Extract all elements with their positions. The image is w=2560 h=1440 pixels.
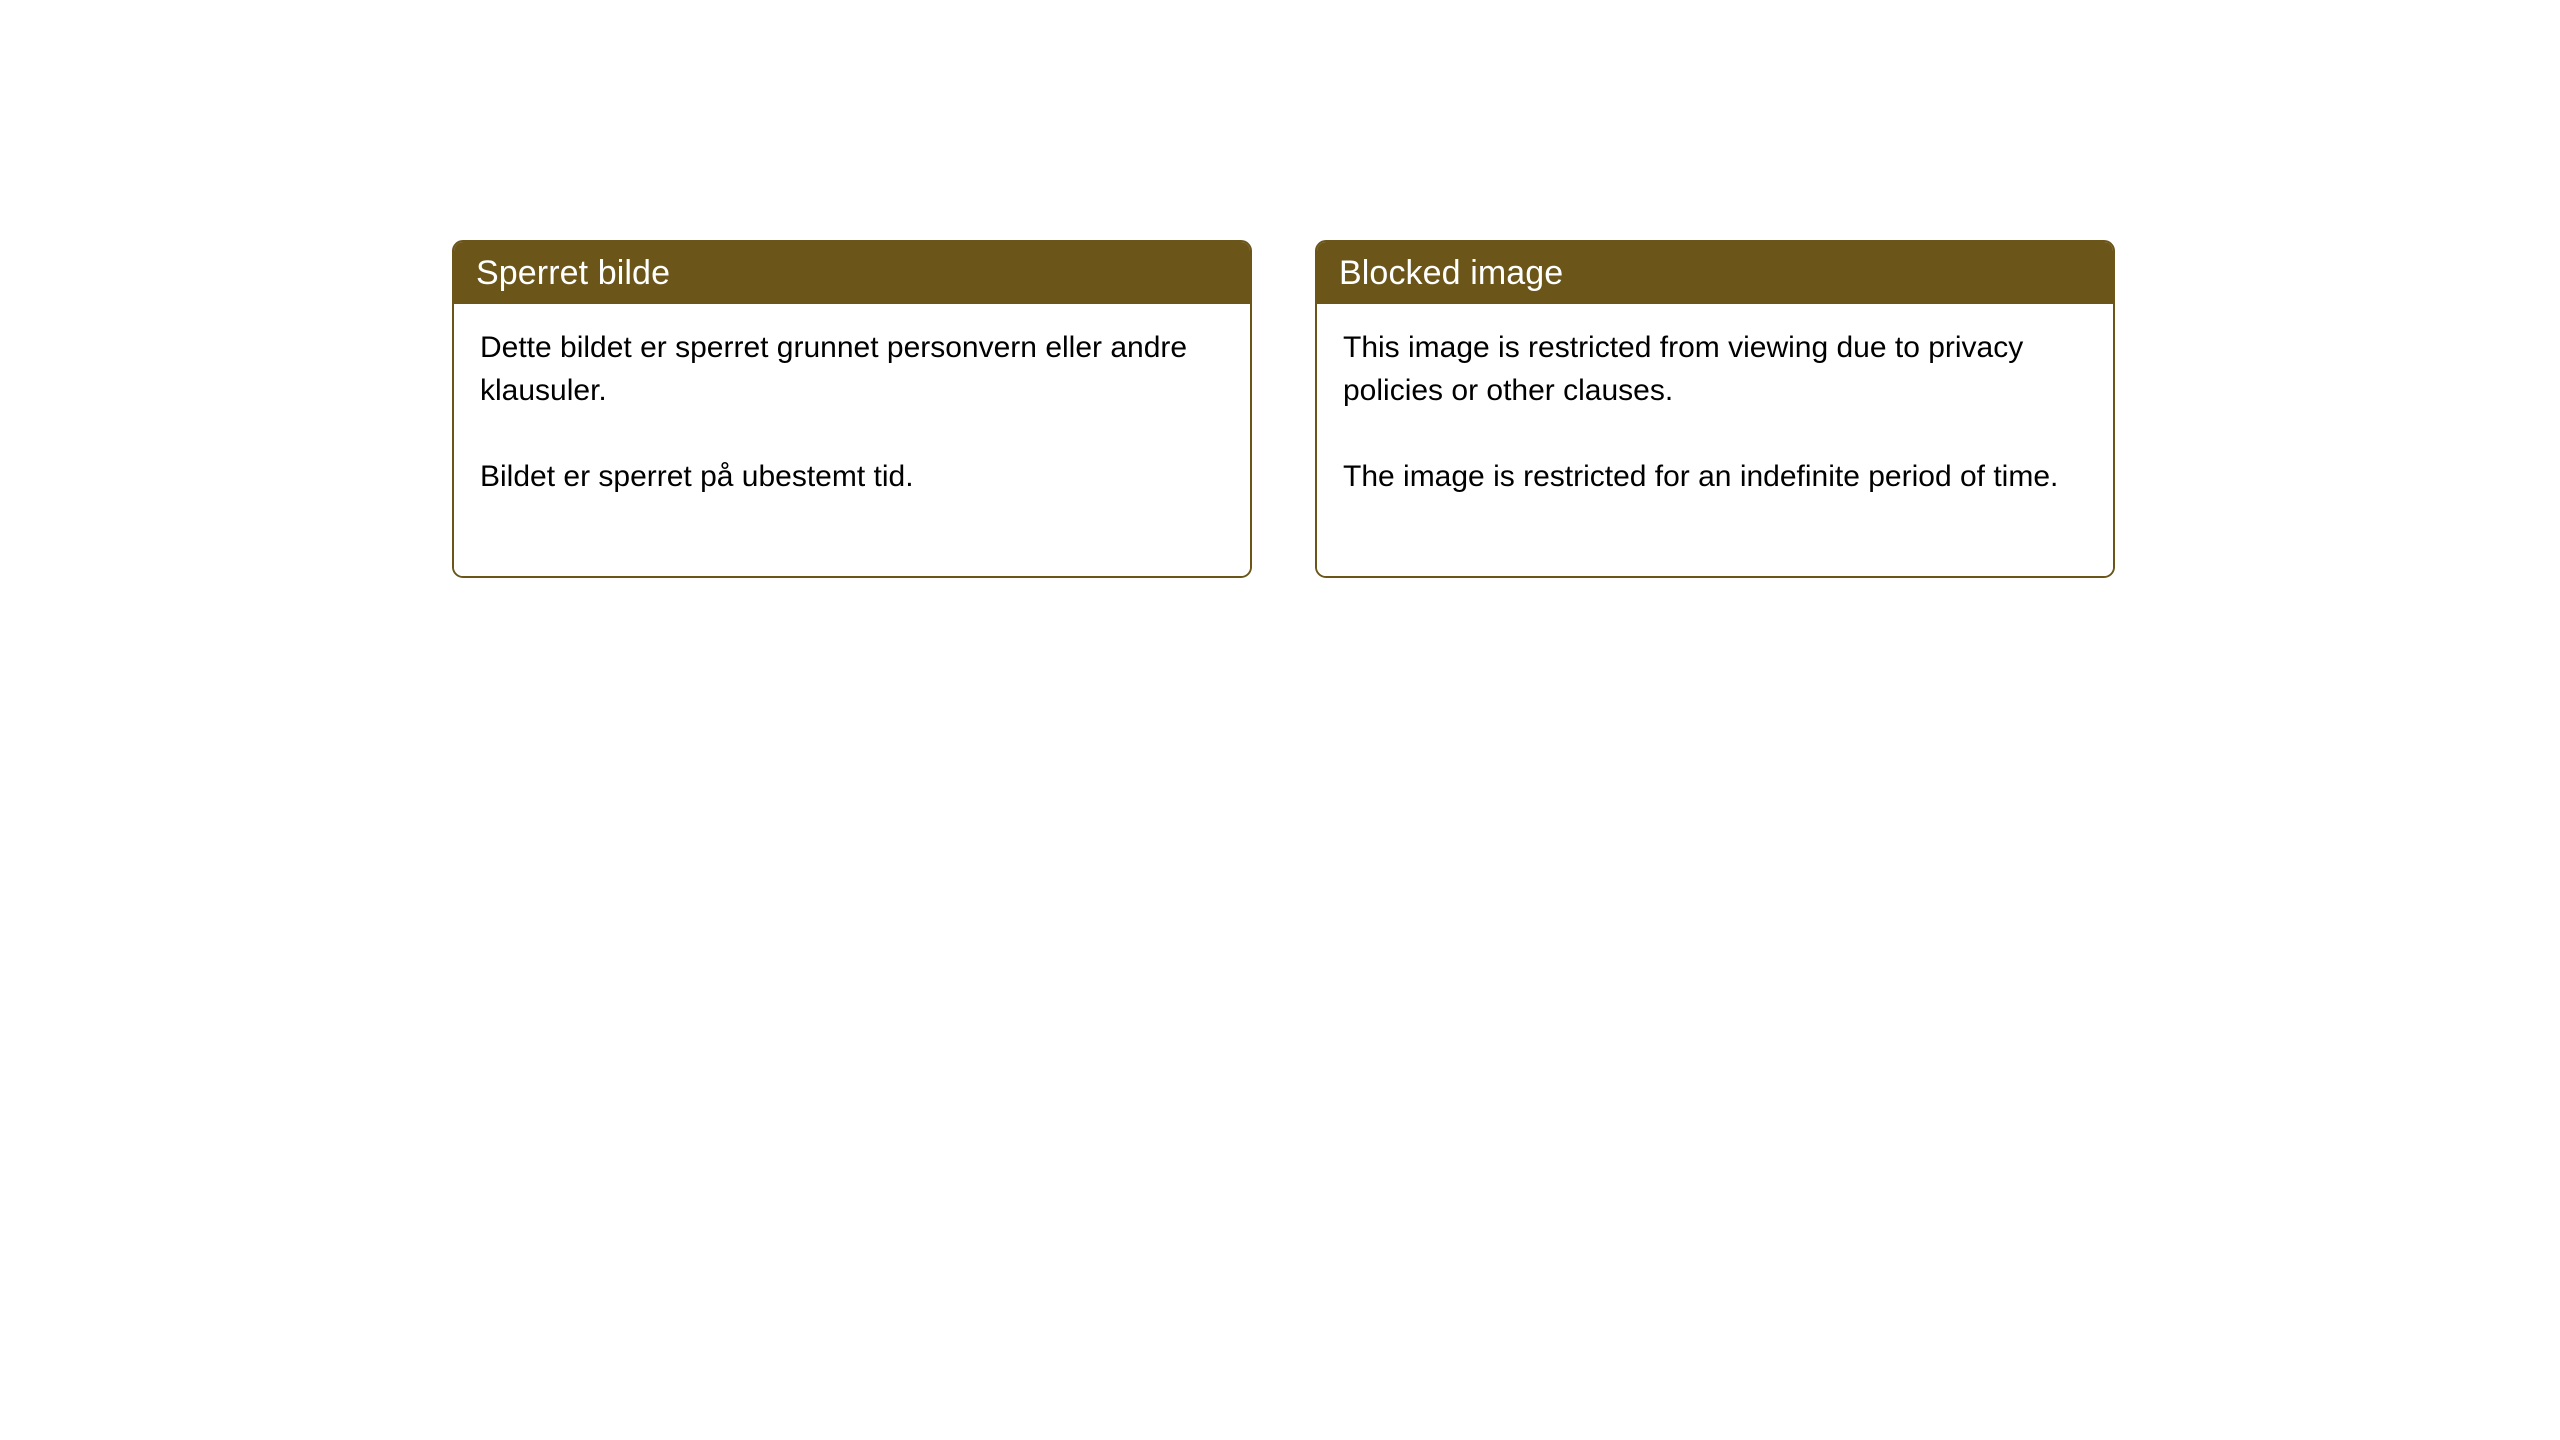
card-header-no: Sperret bilde	[454, 242, 1250, 304]
card-header-en: Blocked image	[1317, 242, 2113, 304]
blocked-image-card-en: Blocked image This image is restricted f…	[1315, 240, 2115, 578]
page-canvas: Sperret bilde Dette bildet er sperret gr…	[0, 0, 2560, 1440]
card-paragraph-en-1: This image is restricted from viewing du…	[1343, 326, 2087, 412]
blocked-image-card-no: Sperret bilde Dette bildet er sperret gr…	[452, 240, 1252, 578]
card-body-no: Dette bildet er sperret grunnet personve…	[454, 304, 1250, 576]
blocked-image-notice-group: Sperret bilde Dette bildet er sperret gr…	[452, 240, 2115, 578]
card-paragraph-en-2: The image is restricted for an indefinit…	[1343, 455, 2087, 498]
card-body-en: This image is restricted from viewing du…	[1317, 304, 2113, 576]
card-paragraph-no-2: Bildet er sperret på ubestemt tid.	[480, 455, 1224, 498]
card-title-no: Sperret bilde	[476, 256, 670, 290]
card-title-en: Blocked image	[1339, 256, 1563, 290]
card-paragraph-no-1: Dette bildet er sperret grunnet personve…	[480, 326, 1224, 412]
